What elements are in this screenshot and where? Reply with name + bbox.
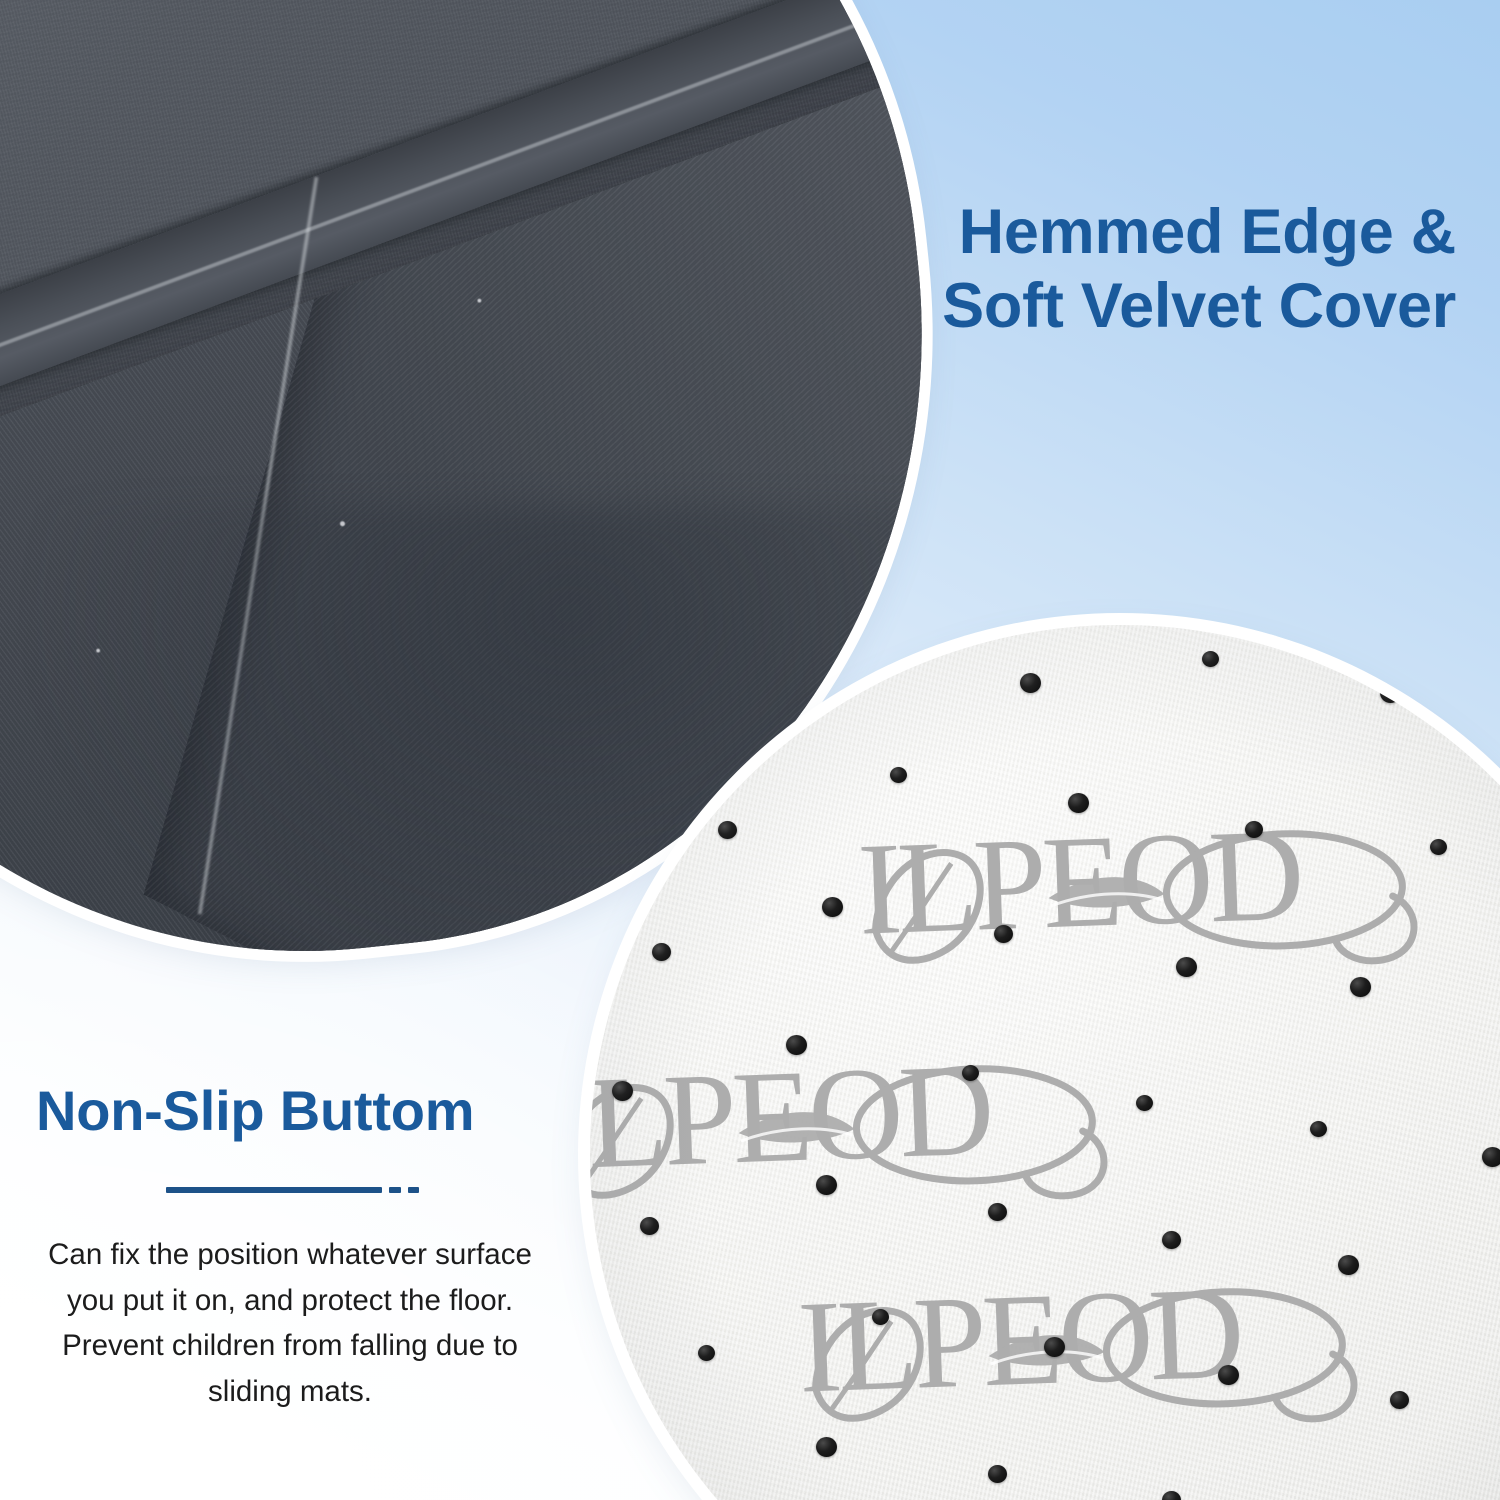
- fabric-lint-speck: [96, 648, 100, 652]
- non-slip-mat-photo: ILPEODILPEODILPEOD: [590, 625, 1500, 1500]
- body-line-4: sliding mats.: [16, 1369, 564, 1415]
- mat-edge-shading: [590, 625, 1500, 1500]
- divider-dash-2: [408, 1187, 419, 1193]
- heading-line-2: Soft Velvet Cover: [816, 270, 1456, 344]
- body-line-1: Can fix the position whatever surface: [16, 1232, 564, 1278]
- feature-body-text: Can fix the position whatever surface yo…: [16, 1232, 564, 1415]
- feature-heading-nonslip: Non-Slip Buttom: [36, 1078, 576, 1144]
- feature-heading-velvet: Hemmed Edge & Soft Velvet Cover: [816, 196, 1456, 343]
- body-line-3: Prevent children from falling due to: [16, 1323, 564, 1369]
- divider-dash-1: [389, 1187, 401, 1193]
- heading-line-1: Hemmed Edge &: [816, 196, 1456, 270]
- product-feature-graphic: ILPEODILPEODILPEOD Hemmed Edge & Soft Ve…: [0, 0, 1500, 1500]
- body-line-2: you put it on, and protect the floor.: [16, 1278, 564, 1324]
- divider-bar: [166, 1187, 382, 1193]
- heading-divider: [166, 1187, 419, 1193]
